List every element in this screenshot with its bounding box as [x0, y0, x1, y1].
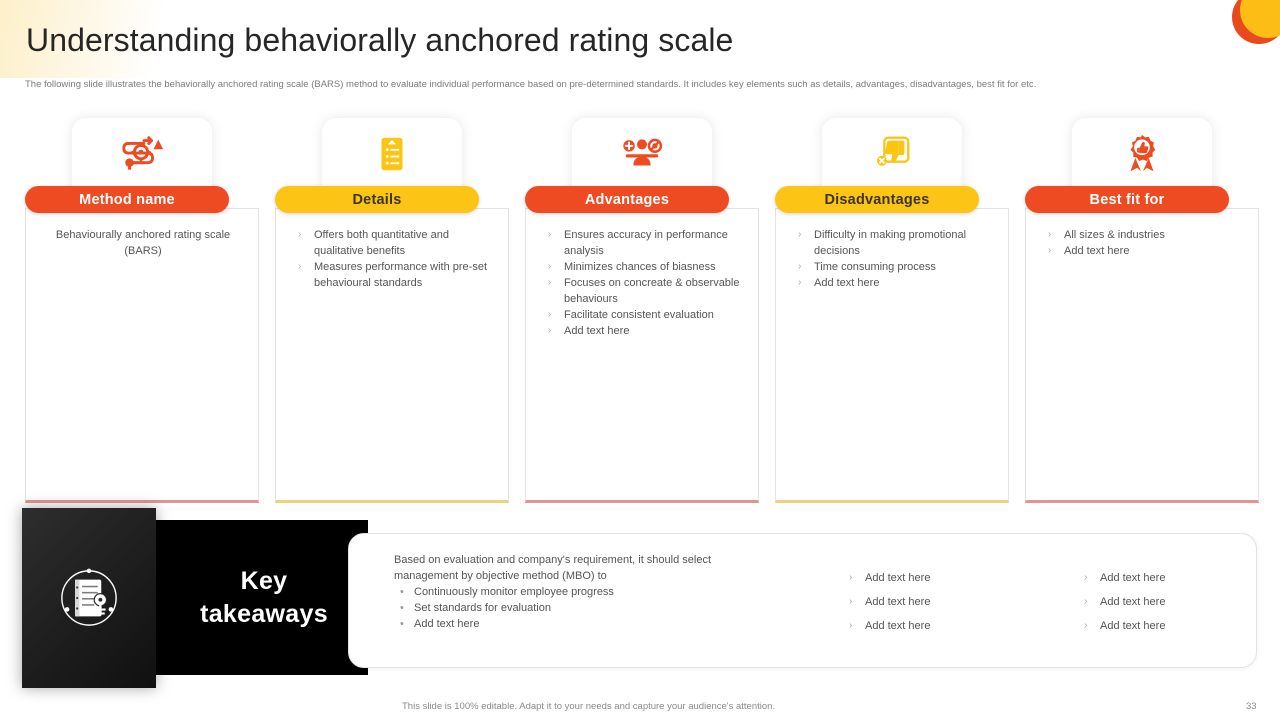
list-item-label: Add text here [1064, 245, 1129, 257]
list-item-label: Add text here [564, 325, 629, 337]
chevron-right-icon: › [849, 566, 852, 590]
list-item: •Add text here [394, 616, 764, 632]
person-plus-check-icon [619, 131, 665, 177]
list-item: ›Add text here [1074, 566, 1280, 590]
takeaways-paragraph-block: Based on evaluation and company's requir… [394, 552, 764, 632]
takeaways-panel: Based on evaluation and company's requir… [348, 533, 1257, 668]
columns-container: Method nameBehaviourally anchored rating… [0, 118, 1280, 508]
list-item: ›All sizes & industries [1036, 227, 1250, 243]
list-item: ›Add text here [786, 275, 1000, 291]
list-item: ›Add text here [536, 323, 750, 339]
chevron-right-icon: › [548, 227, 551, 243]
list-item-label: Add text here [1100, 572, 1165, 584]
column-body-card-3: ›Difficulty in making promotional decisi… [775, 208, 1009, 503]
list-item-label: Difficulty in making promotional decisio… [814, 229, 966, 257]
list-item: •Continuously monitor employee progress [394, 584, 764, 600]
notepad-key-icon [54, 563, 124, 633]
chevron-right-icon: › [849, 614, 852, 638]
list-item: ›Add text here [1074, 614, 1280, 638]
chevron-right-icon: › [1084, 614, 1087, 638]
list-item-label: Offers both quantitative and qualitative… [314, 229, 449, 257]
page-number: 33 [1246, 701, 1257, 712]
chevron-right-icon: › [298, 227, 301, 243]
column-best-fit-for: Best fit for›All sizes & industries›Add … [1025, 118, 1259, 503]
chevron-right-icon: › [1048, 227, 1051, 243]
bullet-dot-icon: • [400, 616, 404, 632]
list-item-label: Minimizes chances of biasness [564, 261, 716, 273]
footer-note: This slide is 100% editable. Adapt it to… [402, 701, 775, 712]
list-item: ›Measures performance with pre-set behav… [286, 259, 500, 291]
page-subtitle: The following slide illustrates the beha… [25, 78, 1257, 91]
list-item-label: Ensures accuracy in performance analysis [564, 229, 728, 257]
list-item-label: Add text here [814, 277, 879, 289]
column-content-2: ›Ensures accuracy in performance analysi… [526, 208, 759, 339]
column-body-card-2: ›Ensures accuracy in performance analysi… [525, 208, 759, 503]
column-header-pill-3[interactable]: Disadvantages [775, 186, 979, 213]
takeaways-icon-tile [22, 508, 156, 688]
list-item-label: Add text here [865, 596, 930, 608]
takeaways-title-line2: takeaways [200, 598, 328, 631]
thumbs-down-icon [869, 131, 915, 177]
award-ribbon-icon [1119, 131, 1165, 177]
column-disadvantages: Disadvantages›Difficulty in making promo… [775, 118, 1009, 503]
chevron-right-icon: › [1084, 566, 1087, 590]
list-item: ›Add text here [839, 590, 1049, 614]
list-item-label: Set standards for evaluation [414, 602, 551, 614]
takeaways-title-line1: Key [241, 565, 288, 598]
column-header-pill-4[interactable]: Best fit for [1025, 186, 1229, 213]
tk-col1: ›Add text here›Add text here›Add text he… [839, 566, 1049, 638]
list-item-label: All sizes & industries [1064, 229, 1165, 241]
column-header-pill-0[interactable]: Method name [25, 186, 229, 213]
list-item: ›Add text here [839, 614, 1049, 638]
list-item: ›Facilitate consistent evaluation [536, 307, 750, 323]
column-content-1: ›Offers both quantitative and qualitativ… [276, 208, 509, 291]
list-item-label: Add text here [865, 620, 930, 632]
strategy-process-icon [119, 131, 165, 177]
chevron-right-icon: › [798, 259, 801, 275]
bullet-dot-icon: • [400, 584, 404, 600]
tk-col2: ›Add text here›Add text here›Add text he… [1074, 566, 1280, 638]
takeaways-column-1: ›Add text here›Add text here›Add text he… [839, 566, 1049, 638]
column-body-card-4: ›All sizes & industries›Add text here [1025, 208, 1259, 503]
column-header-pill-2[interactable]: Advantages [525, 186, 729, 213]
list-item-label: Add text here [865, 572, 930, 584]
list-item-label: Measures performance with pre-set behavi… [314, 261, 487, 289]
bullet-dot-icon: • [400, 600, 404, 616]
list-item: ›Offers both quantitative and qualitativ… [286, 227, 500, 259]
list-item-label: Add text here [1100, 596, 1165, 608]
column-bullet-list: ›Difficulty in making promotional decisi… [786, 227, 1000, 291]
chevron-right-icon: › [548, 275, 551, 291]
list-item: ›Time consuming process [786, 259, 1000, 275]
column-plain-text: Behaviourally anchored rating scale (BAR… [36, 227, 250, 259]
takeaways-title: Key takeaways [160, 520, 368, 675]
column-advantages: Advantages›Ensures accuracy in performan… [525, 118, 759, 503]
list-item: •Set standards for evaluation [394, 600, 764, 616]
list-item-label: Facilitate consistent evaluation [564, 309, 714, 321]
clipboard-list-icon [369, 131, 415, 177]
list-item: ›Focuses on concreate & observable behav… [536, 275, 750, 307]
chevron-right-icon: › [298, 259, 301, 275]
list-item: ›Add text here [1074, 590, 1280, 614]
chevron-right-icon: › [1084, 590, 1087, 614]
column-content-4: ›All sizes & industries›Add text here [1026, 208, 1259, 259]
takeaways-paragraph: Based on evaluation and company's requir… [394, 552, 764, 584]
chevron-right-icon: › [1048, 243, 1051, 259]
column-method-name: Method nameBehaviourally anchored rating… [25, 118, 259, 503]
column-details: Details›Offers both quantitative and qua… [275, 118, 509, 503]
list-item-label: Add text here [414, 618, 479, 630]
column-content-0: Behaviourally anchored rating scale (BAR… [26, 208, 259, 259]
chevron-right-icon: › [798, 275, 801, 291]
list-item-label: Focuses on concreate & observable behavi… [564, 277, 740, 305]
list-item: ›Add text here [1036, 243, 1250, 259]
chevron-right-icon: › [548, 307, 551, 323]
chevron-right-icon: › [548, 259, 551, 275]
list-item: ›Ensures accuracy in performance analysi… [536, 227, 750, 259]
chevron-right-icon: › [798, 227, 801, 243]
column-bullet-list: ›Ensures accuracy in performance analysi… [536, 227, 750, 339]
list-item: ›Add text here [839, 566, 1049, 590]
column-body-card-0: Behaviourally anchored rating scale (BAR… [25, 208, 259, 503]
chevron-right-icon: › [849, 590, 852, 614]
column-bullet-list: ›All sizes & industries›Add text here [1036, 227, 1250, 259]
corner-decoration [1214, 0, 1280, 62]
list-item-label: Continuously monitor employee progress [414, 586, 614, 598]
column-body-card-1: ›Offers both quantitative and qualitativ… [275, 208, 509, 503]
column-bullet-list: ›Offers both quantitative and qualitativ… [286, 227, 500, 291]
list-item-label: Add text here [1100, 620, 1165, 632]
list-item-label: Time consuming process [814, 261, 936, 273]
chevron-right-icon: › [548, 323, 551, 339]
para-bullets: •Continuously monitor employee progress•… [394, 584, 764, 632]
takeaways-column-2: ›Add text here›Add text here›Add text he… [1074, 566, 1280, 638]
column-content-3: ›Difficulty in making promotional decisi… [776, 208, 1009, 291]
page-title: Understanding behaviorally anchored rati… [26, 22, 733, 59]
column-header-pill-1[interactable]: Details [275, 186, 479, 213]
list-item: ›Difficulty in making promotional decisi… [786, 227, 1000, 259]
list-item: ›Minimizes chances of biasness [536, 259, 750, 275]
